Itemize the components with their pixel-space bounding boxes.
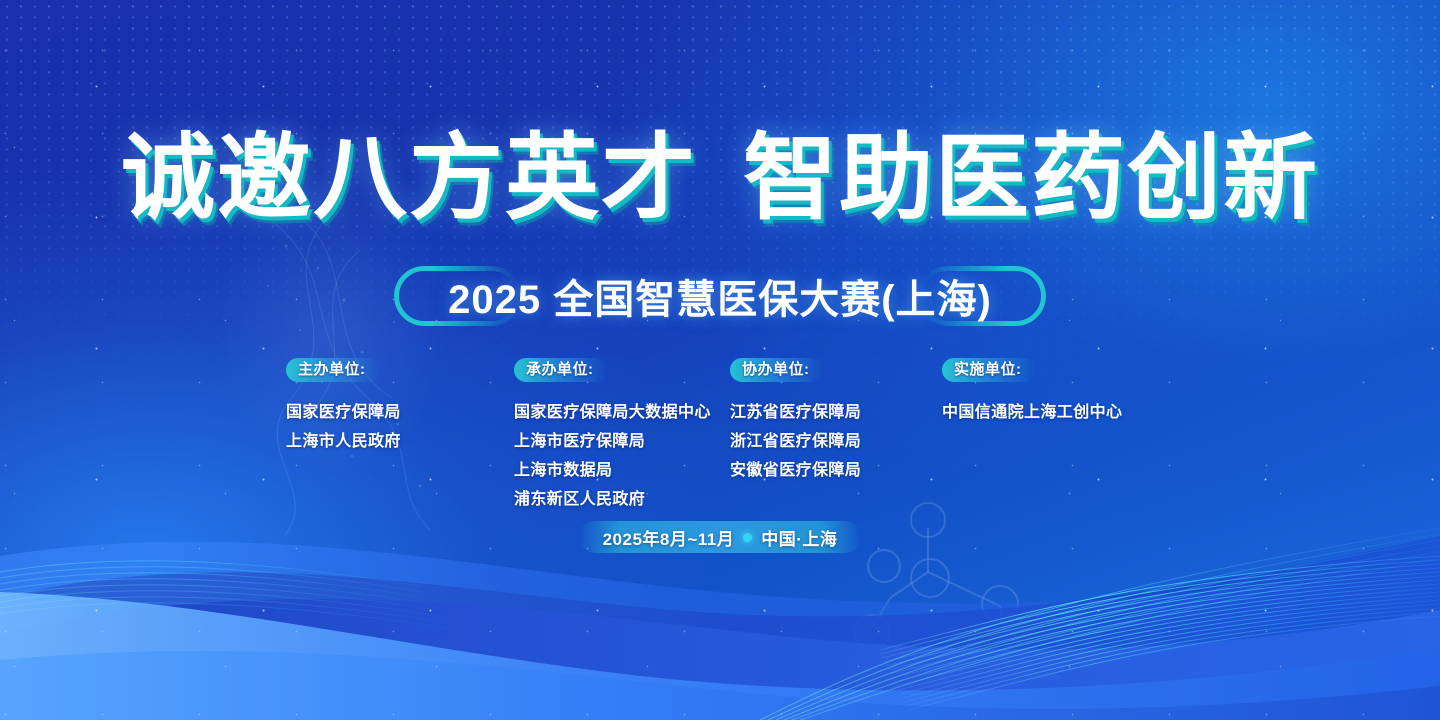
list-item: 安徽省医疗保障局 — [730, 456, 942, 485]
organizers-section: 主办单位: 国家医疗保障局 上海市人民政府 承办单位: 国家医疗保障局大数据中心… — [0, 358, 1440, 514]
list-item: 江苏省医疗保障局 — [730, 398, 942, 427]
organizer-label-undertaker: 承办单位: — [514, 358, 608, 382]
headline-right: 智助医药创新 — [743, 125, 1319, 230]
list-item: 国家医疗保障局大数据中心 — [514, 398, 730, 427]
subtitle-pill: 2025 全国智慧医保大赛(上海) — [394, 266, 1046, 326]
organizer-column-coorganizer: 协办单位: 江苏省医疗保障局 浙江省医疗保障局 安徽省医疗保障局 — [730, 358, 942, 514]
page-title: 诚邀八方英才智助医药创新 — [0, 128, 1440, 228]
list-item: 上海市医疗保障局 — [514, 427, 730, 456]
organizer-items-host: 国家医疗保障局 上海市人民政府 — [286, 398, 514, 456]
organizer-items-coorganizer: 江苏省医疗保障局 浙江省医疗保障局 安徽省医疗保障局 — [730, 398, 942, 485]
list-item: 浙江省医疗保障局 — [730, 427, 942, 456]
organizer-label-host: 主办单位: — [286, 358, 380, 382]
organizer-label-executor: 实施单位: — [942, 358, 1036, 382]
organizer-label-coorganizer: 协办单位: — [730, 358, 824, 382]
list-item: 浦东新区人民政府 — [514, 485, 730, 514]
organizer-column-undertaker: 承办单位: 国家医疗保障局大数据中心 上海市医疗保障局 上海市数据局 浦东新区人… — [514, 358, 730, 514]
event-location: 中国·上海 — [761, 525, 837, 550]
subtitle-text: 2025 全国智慧医保大赛(上海) — [448, 267, 992, 325]
list-item: 中国信通院上海工创中心 — [942, 398, 1154, 427]
event-date: 2025年8月~11月 — [603, 525, 735, 550]
poster-canvas: 诚邀八方英才智助医药创新 2025 全国智慧医保大赛(上海) 主办单位: 国家医… — [0, 0, 1440, 720]
dot-separator-icon — [743, 533, 752, 542]
list-item: 国家医疗保障局 — [286, 398, 514, 427]
date-location-pill: 2025年8月~11月 中国·上海 — [579, 521, 862, 553]
organizer-column-host: 主办单位: 国家医疗保障局 上海市人民政府 — [286, 358, 514, 514]
date-location-container: 2025年8月~11月 中国·上海 — [0, 521, 1440, 553]
subtitle-container: 2025 全国智慧医保大赛(上海) — [0, 266, 1440, 326]
organizer-items-undertaker: 国家医疗保障局大数据中心 上海市医疗保障局 上海市数据局 浦东新区人民政府 — [514, 398, 730, 514]
organizer-items-executor: 中国信通院上海工创中心 — [942, 398, 1154, 427]
headline-left: 诚邀八方英才 — [121, 125, 697, 230]
list-item: 上海市人民政府 — [286, 427, 514, 456]
list-item: 上海市数据局 — [514, 456, 730, 485]
organizer-column-executor: 实施单位: 中国信通院上海工创中心 — [942, 358, 1154, 514]
